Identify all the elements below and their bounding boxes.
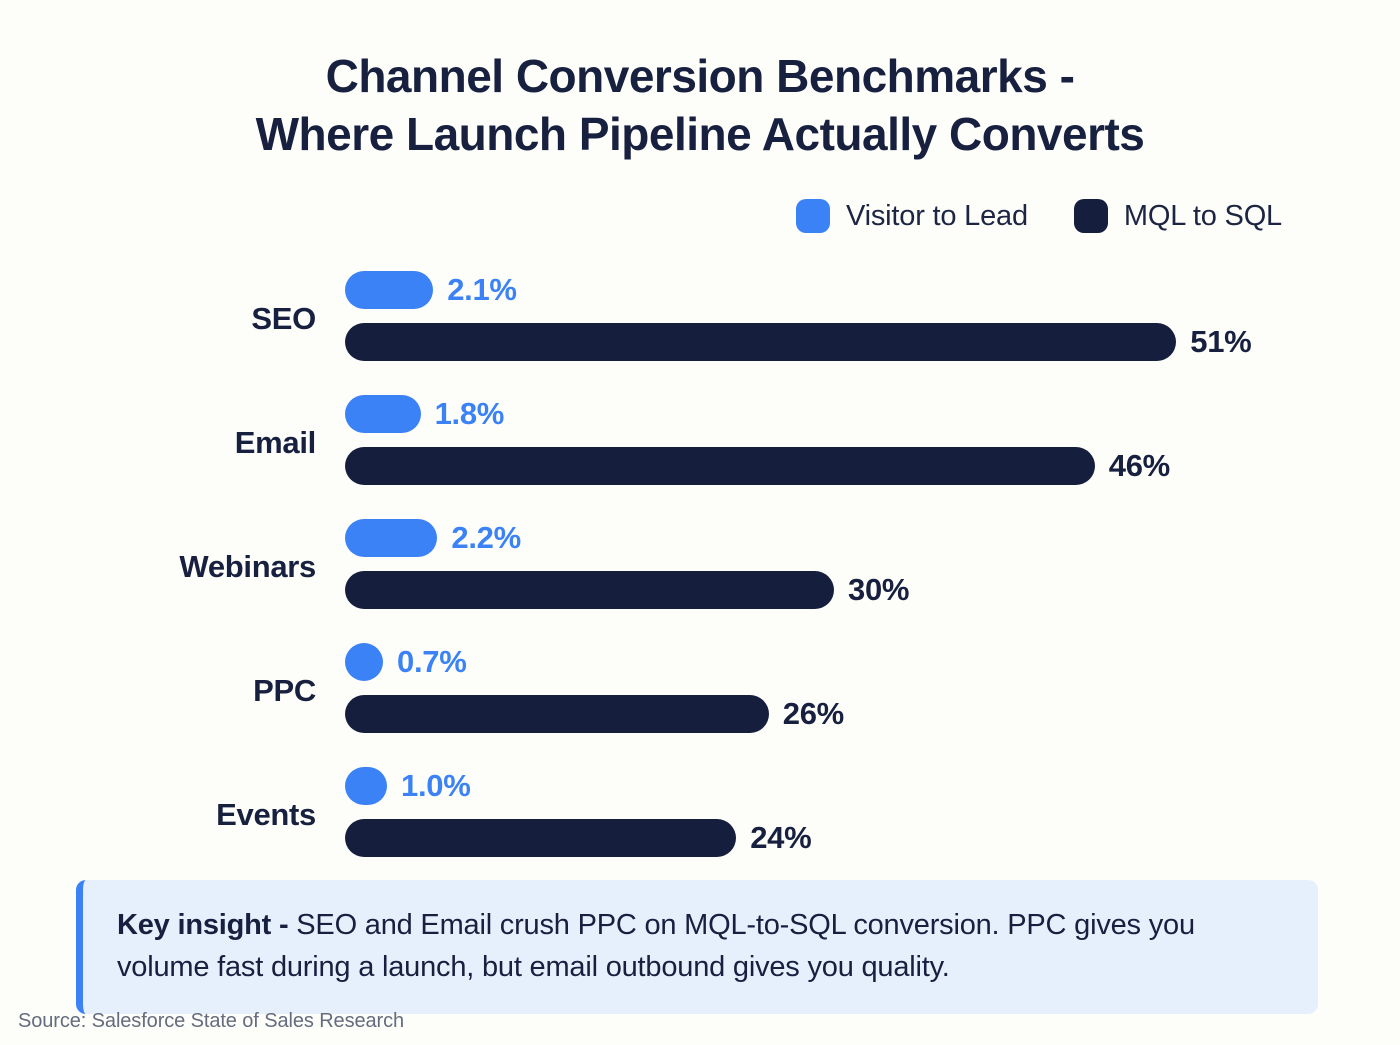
bar-group-visitor-to-lead: 2.2% <box>345 519 521 557</box>
bar-value-visitor-to-lead: 0.7% <box>397 644 466 680</box>
bar-mql-to-sql <box>345 447 1095 485</box>
source-note: Source: Salesforce State of Sales Resear… <box>18 1010 404 1033</box>
bar-value-visitor-to-lead: 2.1% <box>447 272 516 308</box>
chart-row: Webinars2.2%30% <box>0 505 1400 629</box>
chart-row-label-seo: SEO <box>0 301 316 337</box>
bar-value-mql-to-sql: 46% <box>1109 448 1170 484</box>
bar-group-mql-to-sql: 51% <box>345 323 1251 361</box>
key-insight-lead: Key insight - <box>117 909 288 941</box>
bar-group-mql-to-sql: 26% <box>345 695 844 733</box>
bar-visitor-to-lead <box>345 271 433 309</box>
legend-label-mql-to-sql: MQL to SQL <box>1124 200 1282 233</box>
bar-group-visitor-to-lead: 0.7% <box>345 643 466 681</box>
bar-group-mql-to-sql: 46% <box>345 447 1170 485</box>
bar-group-mql-to-sql: 30% <box>345 571 909 609</box>
bar-visitor-to-lead <box>345 519 437 557</box>
bar-group-mql-to-sql: 24% <box>345 819 811 857</box>
chart-row-bars: 2.2%30% <box>345 505 1400 629</box>
chart-row-label-ppc: PPC <box>0 673 316 709</box>
bar-visitor-to-lead <box>345 767 387 805</box>
chart-row: SEO2.1%51% <box>0 257 1400 381</box>
key-insight-callout: Key insight - SEO and Email crush PPC on… <box>76 880 1318 1014</box>
legend-swatch-mql-to-sql <box>1074 199 1108 233</box>
chart-row: Email1.8%46% <box>0 381 1400 505</box>
chart-row-bars: 1.0%24% <box>345 753 1400 877</box>
bar-value-visitor-to-lead: 1.8% <box>435 396 504 432</box>
bar-group-visitor-to-lead: 1.8% <box>345 395 504 433</box>
chart-row: Events1.0%24% <box>0 753 1400 877</box>
chart-row: PPC0.7%26% <box>0 629 1400 753</box>
bar-value-mql-to-sql: 30% <box>848 572 909 608</box>
bar-value-mql-to-sql: 51% <box>1190 324 1251 360</box>
chart-legend: Visitor to Lead MQL to SQL <box>0 199 1400 233</box>
legend-item-mql-to-sql: MQL to SQL <box>1074 199 1282 233</box>
bar-mql-to-sql <box>345 571 834 609</box>
bar-group-visitor-to-lead: 1.0% <box>345 767 470 805</box>
bar-chart: SEO2.1%51%Email1.8%46%Webinars2.2%30%PPC… <box>0 257 1400 877</box>
bar-value-mql-to-sql: 24% <box>750 820 811 856</box>
bar-group-visitor-to-lead: 2.1% <box>345 271 517 309</box>
legend-item-visitor-to-lead: Visitor to Lead <box>796 199 1028 233</box>
chart-row-bars: 2.1%51% <box>345 257 1400 381</box>
page-title-line-1: Channel Conversion Benchmarks - <box>0 48 1400 106</box>
bar-visitor-to-lead <box>345 395 421 433</box>
chart-row-label-email: Email <box>0 425 316 461</box>
key-insight-text: Key insight - SEO and Email crush PPC on… <box>117 904 1284 988</box>
page-title: Channel Conversion Benchmarks - Where La… <box>0 0 1400 163</box>
bar-visitor-to-lead <box>345 643 383 681</box>
legend-swatch-visitor-to-lead <box>796 199 830 233</box>
page-title-line-2: Where Launch Pipeline Actually Converts <box>0 106 1400 164</box>
chart-row-bars: 1.8%46% <box>345 381 1400 505</box>
bar-value-visitor-to-lead: 1.0% <box>401 768 470 804</box>
bar-value-visitor-to-lead: 2.2% <box>451 520 520 556</box>
chart-row-bars: 0.7%26% <box>345 629 1400 753</box>
chart-row-label-webinars: Webinars <box>0 549 316 585</box>
bar-mql-to-sql <box>345 323 1176 361</box>
legend-label-visitor-to-lead: Visitor to Lead <box>846 200 1028 233</box>
bar-mql-to-sql <box>345 695 769 733</box>
chart-row-label-events: Events <box>0 797 316 833</box>
bar-mql-to-sql <box>345 819 736 857</box>
bar-value-mql-to-sql: 26% <box>783 696 844 732</box>
